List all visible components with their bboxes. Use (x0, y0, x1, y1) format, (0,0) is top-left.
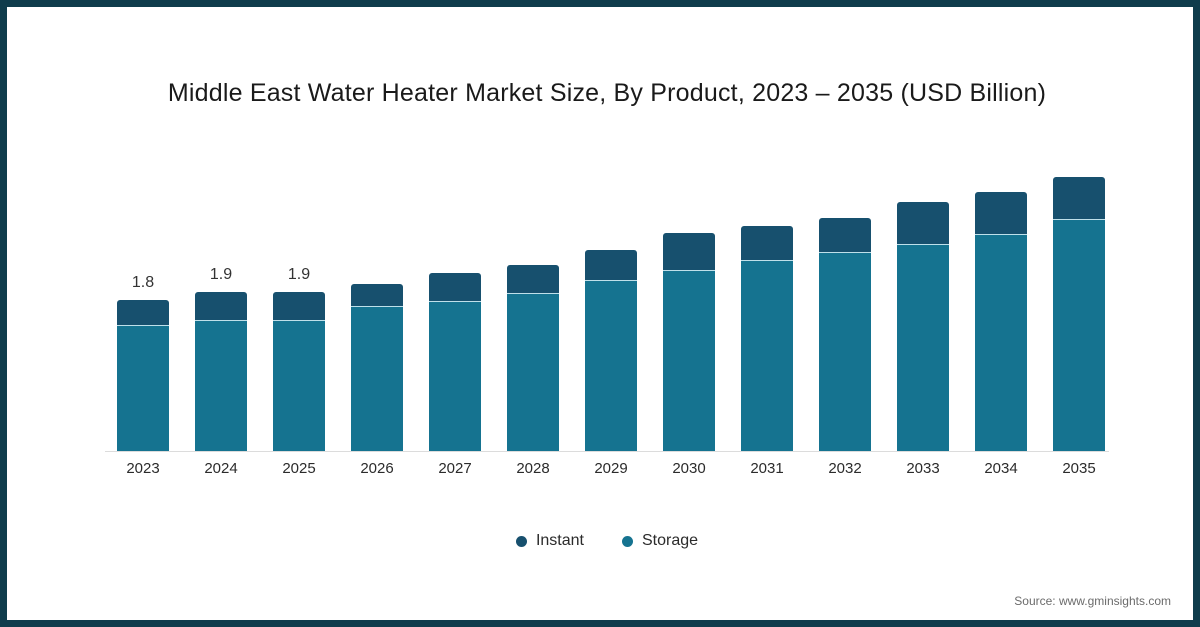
bar-segment-instant-2029[interactable] (585, 250, 637, 280)
x-axis-tick-2029: 2029 (585, 460, 637, 477)
bar-segment-instant-2031[interactable] (741, 226, 793, 260)
bar-segment-instant-2027[interactable] (429, 273, 481, 301)
bar-segment-storage-2026[interactable] (351, 306, 403, 451)
bar-segment-storage-2032[interactable] (819, 252, 871, 451)
legend-label: Storage (642, 532, 698, 550)
bar-segment-instant-2030[interactable] (663, 233, 715, 270)
bar-segment-storage-2030[interactable] (663, 270, 715, 451)
x-axis-tick-2028: 2028 (507, 460, 559, 477)
bar-segment-instant-2035[interactable] (1053, 177, 1105, 219)
bar-segment-storage-2027[interactable] (429, 301, 481, 451)
bar-2035[interactable] (1053, 177, 1105, 451)
bar-value-label-2025: 1.9 (273, 266, 325, 284)
x-axis-tick-2034: 2034 (975, 460, 1027, 477)
bar-value-label-2024: 1.9 (195, 266, 247, 284)
bar-segment-storage-2034[interactable] (975, 234, 1027, 451)
bar-2033[interactable] (897, 202, 949, 451)
bar-2025[interactable] (273, 292, 325, 451)
x-axis-tick-2030: 2030 (663, 460, 715, 477)
bar-segment-instant-2034[interactable] (975, 192, 1027, 234)
chart-canvas: Middle East Water Heater Market Size, By… (7, 7, 1193, 620)
plot-area: 1.820231.920241.920252026202720282029203… (7, 7, 1200, 457)
x-axis-tick-2026: 2026 (351, 460, 403, 477)
bar-segment-instant-2032[interactable] (819, 218, 871, 252)
legend-label: Instant (536, 532, 584, 550)
bar-segment-instant-2026[interactable] (351, 284, 403, 306)
bar-2034[interactable] (975, 192, 1027, 451)
bar-segment-storage-2023[interactable] (117, 325, 169, 451)
bar-segment-instant-2028[interactable] (507, 265, 559, 293)
bar-2031[interactable] (741, 226, 793, 451)
x-axis-line (105, 451, 1109, 452)
x-axis-tick-2024: 2024 (195, 460, 247, 477)
bar-segment-instant-2025[interactable] (273, 292, 325, 320)
bar-2032[interactable] (819, 218, 871, 451)
x-axis-tick-2027: 2027 (429, 460, 481, 477)
bar-segment-storage-2024[interactable] (195, 320, 247, 451)
bar-2026[interactable] (351, 284, 403, 451)
bar-segment-storage-2028[interactable] (507, 293, 559, 451)
legend-item-instant[interactable]: Instant (516, 532, 584, 550)
bar-2024[interactable] (195, 292, 247, 451)
bar-2029[interactable] (585, 250, 637, 451)
source-attribution: Source: www.gminsights.com (1014, 594, 1171, 608)
bar-segment-storage-2029[interactable] (585, 280, 637, 451)
legend-swatch-icon-instant (516, 536, 527, 547)
bar-segment-storage-2035[interactable] (1053, 219, 1105, 451)
bar-2028[interactable] (507, 265, 559, 451)
bar-segment-instant-2023[interactable] (117, 300, 169, 325)
x-axis-tick-2023: 2023 (117, 460, 169, 477)
bar-segment-instant-2033[interactable] (897, 202, 949, 244)
bar-2030[interactable] (663, 233, 715, 451)
bar-value-label-2023: 1.8 (117, 274, 169, 292)
bar-segment-instant-2024[interactable] (195, 292, 247, 320)
bar-segment-storage-2025[interactable] (273, 320, 325, 451)
bar-2023[interactable] (117, 300, 169, 451)
x-axis-tick-2033: 2033 (897, 460, 949, 477)
x-axis-tick-2032: 2032 (819, 460, 871, 477)
x-axis-tick-2031: 2031 (741, 460, 793, 477)
chart-legend: InstantStorage (7, 532, 1200, 550)
bar-2027[interactable] (429, 273, 481, 451)
x-axis-tick-2025: 2025 (273, 460, 325, 477)
bar-segment-storage-2031[interactable] (741, 260, 793, 451)
chart-frame: Middle East Water Heater Market Size, By… (0, 0, 1200, 627)
x-axis-tick-2035: 2035 (1053, 460, 1105, 477)
bar-segment-storage-2033[interactable] (897, 244, 949, 451)
legend-item-storage[interactable]: Storage (622, 532, 698, 550)
legend-swatch-icon-storage (622, 536, 633, 547)
